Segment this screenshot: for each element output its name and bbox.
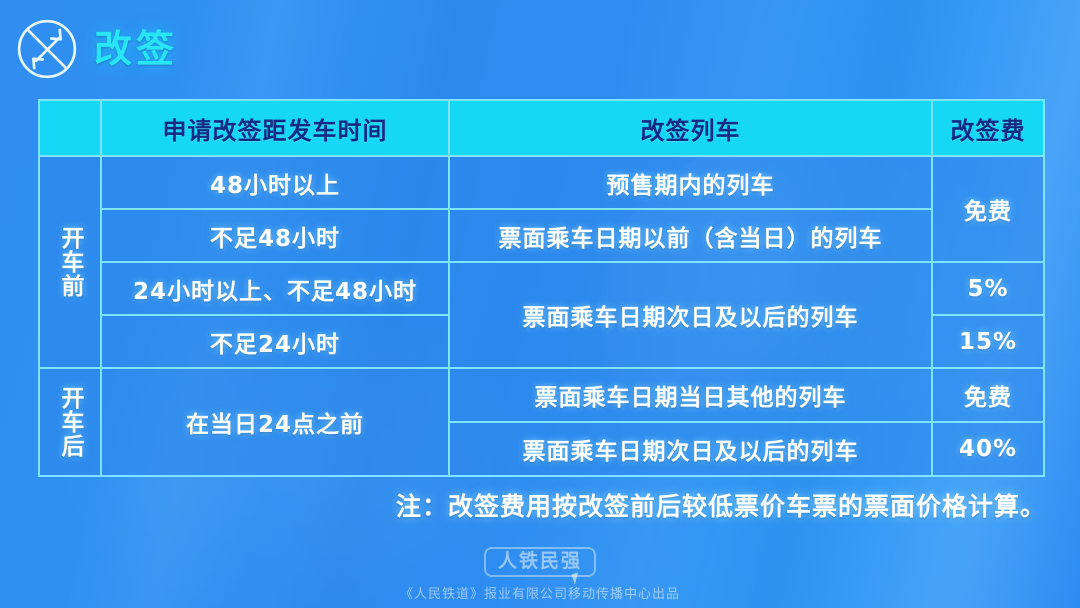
table-row: 开车前 48小时以上 预售期内的列车 免费 (39, 156, 1044, 209)
change-ticket-fare-table: 申请改签距发车时间 改签列车 改签费 开车前 48小时以上 预售期内的列车 免费… (38, 99, 1045, 477)
brand-logo: 人铁民强 (484, 547, 596, 577)
column-header-train: 改签列车 (449, 100, 932, 156)
stage-label-after-departure: 开车后 (39, 368, 101, 476)
stage-label-before-departure: 开车前 (39, 156, 101, 368)
cell-train: 票面乘车日期次日及以后的列车 (449, 262, 932, 368)
table-row: 开车后 在当日24点之前 票面乘车日期当日其他的列车 免费 (39, 368, 1044, 422)
page-footer: 人铁民强 《人民铁道》报业有限公司移动传播中心出品 (0, 547, 1080, 602)
brand-logo-text: 人铁民强 (498, 552, 582, 571)
cell-fee: 免费 (932, 156, 1044, 262)
table-row: 不足48小时 票面乘车日期以前（含当日）的列车 (39, 209, 1044, 262)
cell-when: 24小时以上、不足48小时 (101, 262, 449, 315)
table-footnote: 注：改签费用按改签前后较低票价车票的票面价格计算。 (396, 487, 1046, 523)
cell-when: 不足48小时 (101, 209, 449, 262)
column-header-stage (39, 100, 101, 156)
cell-train: 票面乘车日期以前（含当日）的列车 (449, 209, 932, 262)
page-header: 改签 (14, 16, 178, 82)
page-title: 改签 (94, 30, 178, 68)
table-row: 24小时以上、不足48小时 票面乘车日期次日及以后的列车 5% (39, 262, 1044, 315)
exchange-arrows-circle-icon (14, 16, 80, 82)
cell-fee: 40% (932, 422, 1044, 476)
cell-when: 不足24小时 (101, 315, 449, 368)
cell-fee: 免费 (932, 368, 1044, 422)
cell-when: 在当日24点之前 (101, 368, 449, 476)
cell-when: 48小时以上 (101, 156, 449, 209)
fare-table-container: 申请改签距发车时间 改签列车 改签费 开车前 48小时以上 预售期内的列车 免费… (38, 99, 1043, 477)
cell-train: 票面乘车日期次日及以后的列车 (449, 422, 932, 476)
column-header-when: 申请改签距发车时间 (101, 100, 449, 156)
table-header-row: 申请改签距发车时间 改签列车 改签费 (39, 100, 1044, 156)
cell-train: 票面乘车日期当日其他的列车 (449, 368, 932, 422)
cell-fee: 5% (932, 262, 1044, 315)
column-header-fee: 改签费 (932, 100, 1044, 156)
poster-canvas: 改签 申请改签距发车时间 改签列车 改签费 开车前 (0, 0, 1080, 608)
publisher-credit: 《人民铁道》报业有限公司移动传播中心出品 (400, 583, 680, 602)
cell-train: 预售期内的列车 (449, 156, 932, 209)
cell-fee: 15% (932, 315, 1044, 368)
